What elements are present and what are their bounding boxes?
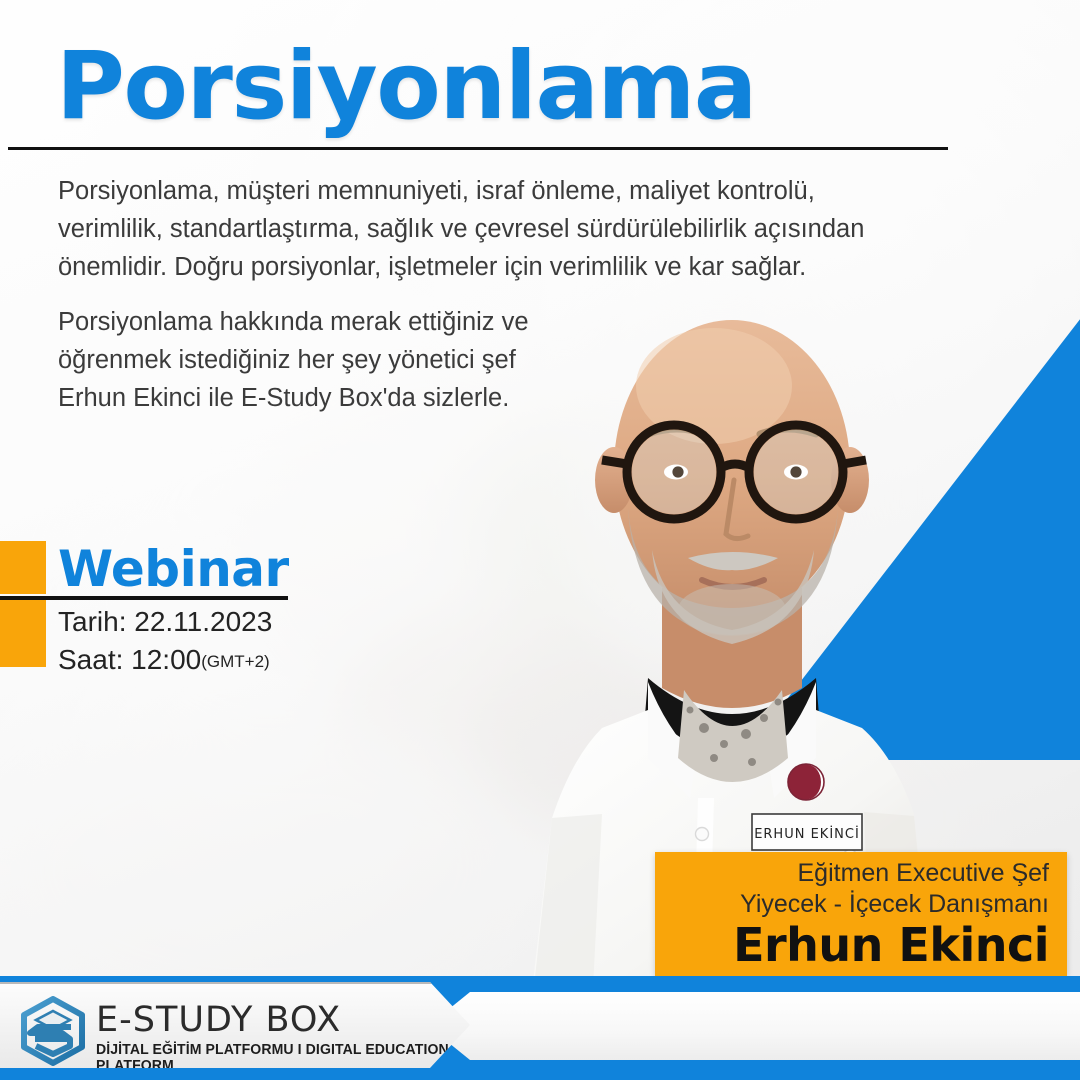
title-divider bbox=[8, 147, 948, 150]
brand-name: E-STUDY BOX bbox=[96, 1000, 341, 1040]
orange-accent-block-top bbox=[0, 541, 46, 594]
webinar-poster: ERHUN EKİNCİ bbox=[0, 0, 1080, 1080]
webinar-date: Tarih: 22.11.2023 bbox=[58, 606, 272, 638]
svg-text:ERHUN EKİNCİ: ERHUN EKİNCİ bbox=[754, 826, 860, 842]
footer-right-ribbon bbox=[428, 992, 1080, 1060]
detail-paragraph: Porsiyonlama hakkında merak ettiğiniz ve… bbox=[58, 303, 698, 417]
speaker-banner: Eğitmen Executive Şef Yiyecek - İçecek D… bbox=[655, 852, 1067, 977]
page-title: Porsiyonlama bbox=[56, 38, 756, 136]
webinar-time-value: Saat: 12:00 bbox=[58, 644, 201, 675]
footer-left-ribbon: E-STUDY BOX DİJİTAL EĞİTİM PLATFORMU I D… bbox=[0, 982, 470, 1068]
webinar-label: Webinar bbox=[58, 540, 289, 598]
orange-accent-block-bottom bbox=[0, 600, 46, 667]
webinar-divider bbox=[0, 596, 288, 600]
intro-paragraph: Porsiyonlama, müşteri memnuniyeti, israf… bbox=[58, 172, 998, 286]
speaker-name: Erhun Ekinci bbox=[733, 920, 1049, 970]
webinar-time: Saat: 12:00(GMT+2) bbox=[58, 644, 270, 676]
footer-bar: E-STUDY BOX DİJİTAL EĞİTİM PLATFORMU I D… bbox=[0, 976, 1080, 1080]
estudybox-cube-icon bbox=[18, 996, 88, 1066]
speaker-role-line-1: Eğitmen Executive Şef bbox=[797, 858, 1049, 889]
speaker-role-line-2: Yiyecek - İçecek Danışmanı bbox=[740, 889, 1049, 920]
webinar-timezone: (GMT+2) bbox=[201, 652, 269, 671]
